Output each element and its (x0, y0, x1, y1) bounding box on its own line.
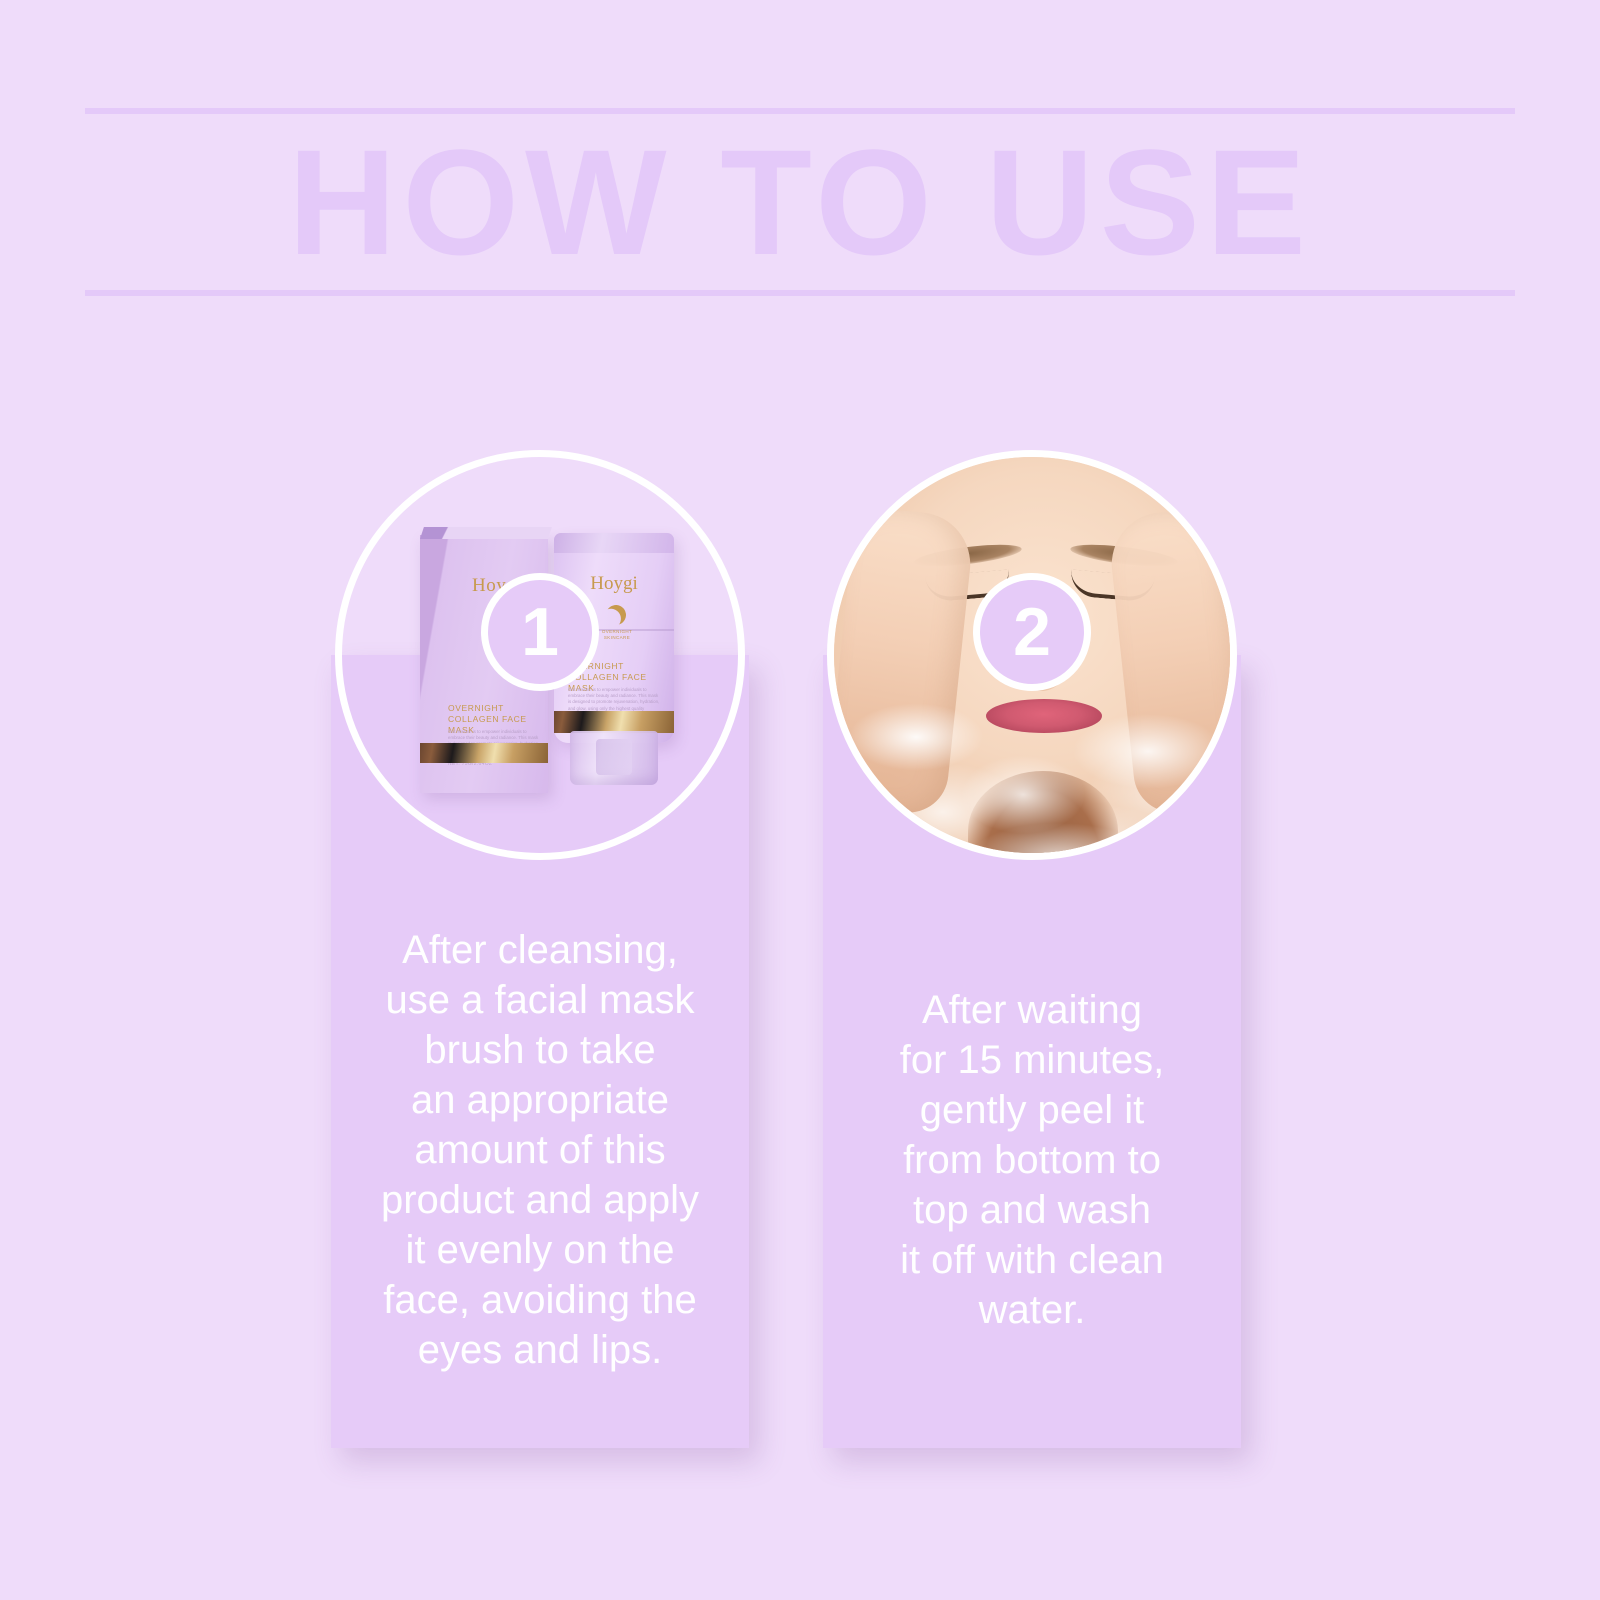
product-tube-brand: Hoygi (574, 573, 654, 595)
step-number-1: 1 (521, 598, 559, 666)
step-number-2: 2 (1013, 598, 1051, 666)
step-2-instruction-text: After waiting for 15 minutes, gently pee… (843, 985, 1221, 1335)
how-to-use-infographic: HOW TO USE Hoygi OVERNIGHT SKINCARE OVER… (0, 0, 1600, 1600)
step-card-1: Hoygi OVERNIGHT SKINCARE OVERNIGHT COLLA… (331, 655, 749, 1448)
step-number-badge-1: 1 (481, 573, 599, 691)
product-tube-gold-band (554, 711, 674, 733)
step-1-instruction-text: After cleansing, use a facial mask brush… (351, 925, 729, 1375)
product-tube-seam (554, 533, 674, 553)
step-card-2: 2 After waiting for 15 minutes, gently p… (823, 655, 1241, 1448)
product-tube-cap (570, 731, 658, 785)
product-tube-moon-caption: OVERNIGHT SKINCARE (592, 629, 642, 641)
steps-container: Hoygi OVERNIGHT SKINCARE OVERNIGHT COLLA… (0, 0, 1600, 1600)
step-number-badge-2: 2 (973, 573, 1091, 691)
product-box-top (420, 527, 552, 539)
product-box-gold-band (420, 743, 548, 763)
crescent-moon-icon (603, 602, 628, 627)
